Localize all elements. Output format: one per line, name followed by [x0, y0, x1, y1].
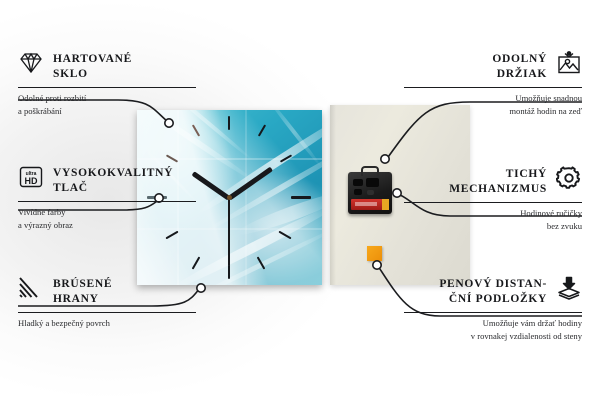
feature-desc-line1: Odolné proti rozbití — [18, 92, 196, 104]
connector-marker-glass — [165, 119, 173, 127]
feature-silent-mechanism[interactable]: TICHÝ MECHANIZMUS Hodinové ručičky bez z… — [404, 167, 582, 232]
connector-marker-mechanism — [393, 189, 401, 197]
feature-desc-line1: Umožňuje snadnou — [404, 92, 582, 104]
feature-desc-line2: v rovnakej vzdialenosti od steny — [404, 330, 582, 342]
feature-desc-line1: Hodinové ručičky — [404, 207, 582, 219]
feature-divider — [18, 201, 196, 202]
feature-desc-line2: bez zvuku — [404, 220, 582, 232]
feature-hq-print[interactable]: ultra HD VYSOKOKVALITNÝ TLAČ Vivídne far… — [18, 166, 196, 231]
connector-marker-foam — [373, 261, 381, 269]
diamond-icon — [18, 51, 44, 75]
feature-title-line2: TLAČ — [53, 181, 173, 196]
feature-title-line2: MECHANIZMUS — [449, 182, 547, 197]
feature-title-line2: ČNÍ PODLOŽKY — [439, 292, 547, 307]
infographic-canvas: HARTOVANÉ SKLO Odolné proti rozbití a po… — [0, 0, 600, 400]
feature-desc-line2: montáž hodin na zeď — [404, 105, 582, 117]
connector-marker-edges — [197, 284, 205, 292]
ultra-hd-icon-bottom: HD — [25, 176, 38, 186]
picture-frame-icon — [556, 51, 582, 75]
brushed-edges-icon — [18, 276, 44, 300]
feature-title-line2: HRANY — [53, 292, 112, 307]
feature-divider — [404, 312, 582, 313]
feature-brushed-edges[interactable]: BRÚSENÉ HRANY Hladký a bezpečný povrch — [18, 277, 196, 330]
feature-divider — [18, 312, 196, 313]
feature-foam-spacers[interactable]: PENOVÝ DISTAN- ČNÍ PODLOŽKY Umožňuje vám… — [404, 277, 582, 342]
feature-desc-line1: Vivídne farby — [18, 206, 196, 218]
feature-desc-line1: Umožňuje vám držať hodiny — [404, 317, 582, 329]
feature-title-line1: VYSOKOKVALITNÝ — [53, 166, 173, 181]
feature-tempered-glass[interactable]: HARTOVANÉ SKLO Odolné proti rozbití a po… — [18, 52, 196, 117]
feature-title-line1: ODOLNÝ — [492, 52, 547, 67]
feature-desc-line1: Hladký a bezpečný povrch — [18, 317, 196, 329]
feature-title-line1: BRÚSENÉ — [53, 277, 112, 292]
gear-icon — [556, 166, 582, 190]
feature-title-line2: DRŽIAK — [492, 67, 547, 82]
feature-divider — [404, 87, 582, 88]
foam-pad-icon — [556, 276, 582, 300]
ultra-hd-icon: ultra HD — [18, 165, 44, 189]
connector-marker-holder — [381, 155, 389, 163]
feature-desc-line2: a výrazný obraz — [18, 219, 196, 231]
feature-title-line1: PENOVÝ DISTAN- — [439, 277, 547, 292]
feature-title-line1: HARTOVANÉ — [53, 52, 132, 67]
feature-title-line1: TICHÝ — [449, 167, 547, 182]
feature-desc-line2: a poškrábání — [18, 105, 196, 117]
feature-divider — [18, 87, 196, 88]
feature-durable-holder[interactable]: ODOLNÝ DRŽIAK Umožňuje snadnou montáž ho… — [404, 52, 582, 117]
feature-title-line2: SKLO — [53, 67, 132, 82]
feature-divider — [404, 202, 582, 203]
